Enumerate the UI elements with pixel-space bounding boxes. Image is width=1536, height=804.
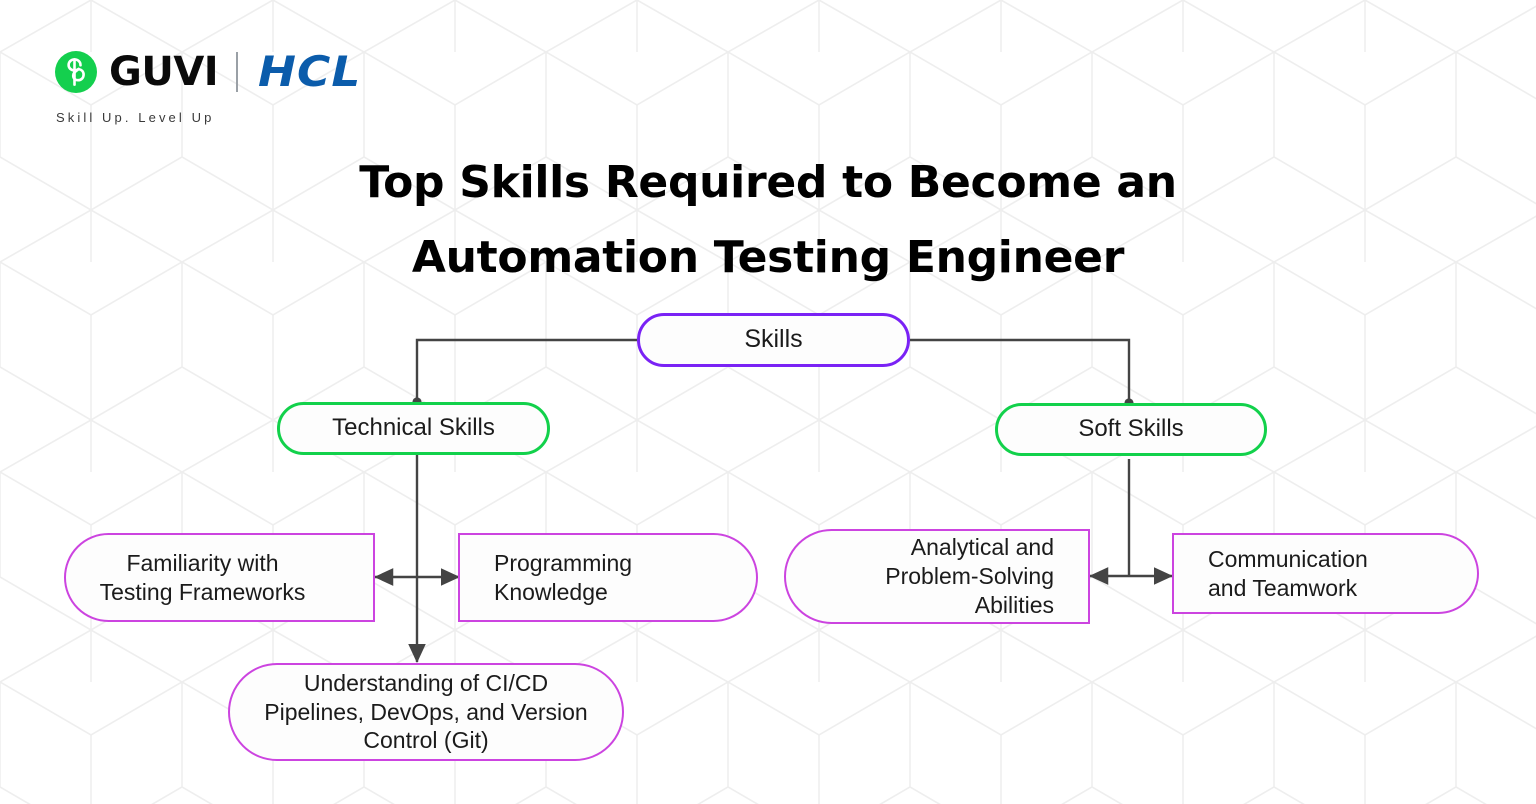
page-title: Top Skills Required to Become an Automat… — [0, 146, 1536, 296]
brand-logo-bar: GUVI HCL Skill Up. Level Up — [55, 48, 354, 125]
guvi-wordmark: GUVI — [109, 52, 218, 92]
logo-row: GUVI HCL — [55, 48, 354, 96]
node-skills[interactable]: Skills — [637, 313, 910, 367]
node-analytical-problem-solving-label: Analytical and Problem-Solving Abilities — [786, 533, 1054, 620]
node-technical-skills-label: Technical Skills — [280, 413, 547, 443]
page-title-line-2: Automation Testing Engineer — [0, 221, 1536, 296]
node-programming-knowledge[interactable]: Programming Knowledge — [458, 533, 758, 622]
node-communication-teamwork[interactable]: Communication and Teamwork — [1172, 533, 1479, 614]
node-cicd-devops-version-control-label: Understanding of CI/CD Pipelines, DevOps… — [260, 669, 592, 756]
node-cicd-devops-version-control[interactable]: Understanding of CI/CD Pipelines, DevOps… — [228, 663, 624, 761]
guvi-g-icon — [55, 51, 97, 93]
node-soft-skills[interactable]: Soft Skills — [995, 403, 1267, 456]
brand-tagline: Skill Up. Level Up — [56, 110, 354, 125]
node-communication-teamwork-label: Communication and Teamwork — [1208, 545, 1477, 603]
hcl-wordmark: HCL — [258, 51, 361, 93]
node-skills-label: Skills — [640, 324, 907, 356]
node-analytical-problem-solving[interactable]: Analytical and Problem-Solving Abilities — [784, 529, 1090, 624]
node-programming-knowledge-label: Programming Knowledge — [494, 549, 756, 607]
node-soft-skills-label: Soft Skills — [998, 414, 1264, 444]
node-familiarity-testing-frameworks-label: Familiarity with Testing Frameworks — [66, 549, 339, 607]
logo-divider — [236, 52, 238, 92]
page-title-line-1: Top Skills Required to Become an — [0, 146, 1536, 221]
node-technical-skills[interactable]: Technical Skills — [277, 402, 550, 455]
node-familiarity-testing-frameworks[interactable]: Familiarity with Testing Frameworks — [64, 533, 375, 622]
